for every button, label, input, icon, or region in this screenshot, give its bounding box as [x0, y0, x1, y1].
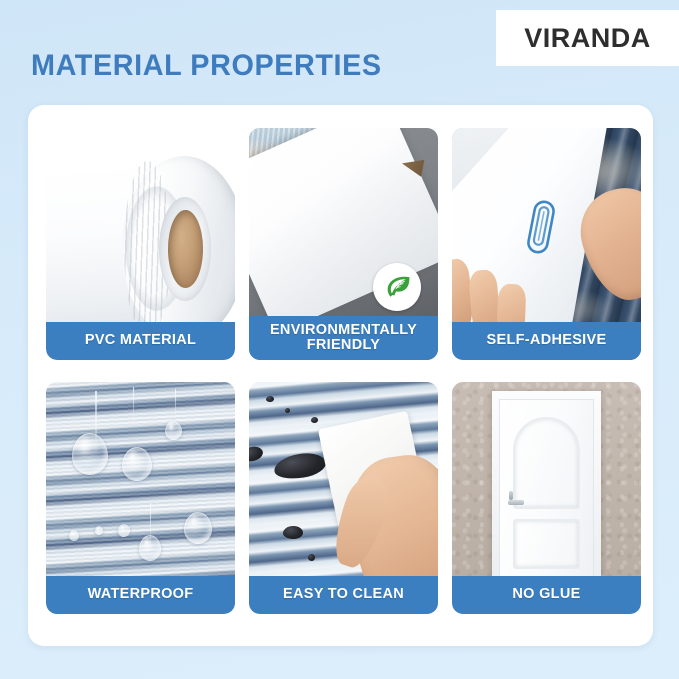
feature-card-pvc-material[interactable]: PVC MATERIAL — [46, 128, 235, 360]
stain-spot — [249, 444, 265, 463]
eco-badge — [373, 263, 421, 311]
droplet-trail — [133, 387, 135, 424]
feature-label-self-adhesive: SELF-ADHESIVE — [452, 322, 641, 360]
feature-label-pvc-material: PVC MATERIAL — [46, 322, 235, 360]
brand-badge: VIRANDA — [496, 10, 679, 66]
door-frame — [492, 391, 602, 577]
feature-label-environmentally-friendly: ENVIRONMENTALLY FRIENDLY — [249, 316, 438, 360]
water-droplet — [118, 524, 130, 537]
stain-spot — [283, 526, 303, 539]
water-droplet — [184, 512, 212, 544]
stain-spot — [272, 450, 327, 482]
feature-card-self-adhesive[interactable]: SELF-ADHESIVE — [452, 128, 641, 360]
stain-spot — [266, 396, 274, 402]
pvc-roll-core — [168, 210, 203, 288]
feature-card-no-glue[interactable]: NO GLUE — [452, 382, 641, 614]
water-droplet — [95, 526, 103, 535]
droplet-trail — [175, 389, 177, 421]
page-title: MATERIAL PROPERTIES — [31, 49, 382, 83]
backing-sheet-fold — [452, 128, 528, 259]
feature-card-waterproof[interactable]: WATERPROOF — [46, 382, 235, 614]
leaf-icon — [382, 272, 412, 302]
features-panel: PVC MATERIAL ENVIRONMENTALL — [28, 105, 653, 646]
door-handle — [508, 500, 524, 505]
water-droplet — [165, 421, 182, 440]
feature-label-waterproof: WATERPROOF — [46, 576, 235, 614]
water-droplet — [69, 530, 79, 541]
door-panel-lower — [513, 519, 579, 568]
stain-spot — [311, 417, 318, 423]
door-leaf — [499, 399, 593, 577]
water-droplet — [122, 447, 152, 481]
feature-card-environmentally-friendly[interactable]: ENVIRONMENTALLY FRIENDLY — [249, 128, 438, 360]
features-grid: PVC MATERIAL ENVIRONMENTALL — [46, 128, 640, 614]
stain-spot — [285, 408, 290, 413]
feature-label-easy-to-clean: EASY TO CLEAN — [249, 576, 438, 614]
stain-spot — [308, 554, 315, 561]
feature-card-easy-to-clean[interactable]: EASY TO CLEAN — [249, 382, 438, 614]
brand-name: VIRANDA — [524, 23, 651, 54]
pvc-roll-shape — [122, 156, 235, 342]
water-droplet — [72, 433, 108, 475]
infographic-page: { "header": { "title": "MATERIAL PROPERT… — [0, 0, 679, 679]
feature-label-no-glue: NO GLUE — [452, 576, 641, 614]
door-panel-upper — [513, 417, 579, 509]
water-droplet — [139, 535, 161, 561]
